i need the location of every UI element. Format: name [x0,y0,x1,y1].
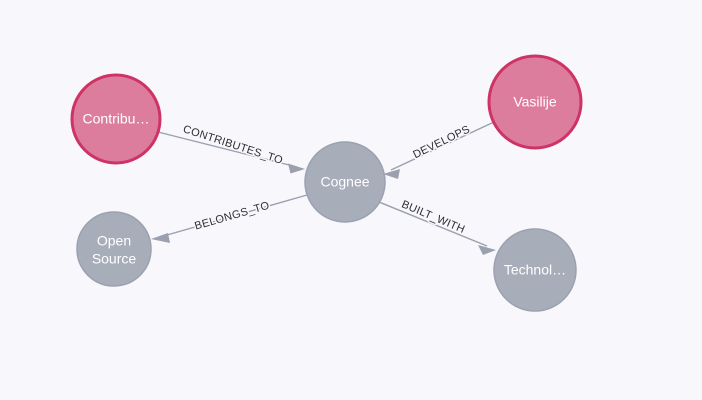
edge-label-belongs-to: BELONGS_TO [193,200,271,233]
edge-belongs-to[interactable]: BELONGS_TO [151,195,307,243]
arrowhead-built-with [478,245,496,255]
graph-visualization[interactable]: CONTRIBUTES_TO DEVELOPS BELONGS_TO BUILT… [0,0,702,400]
node-label-open-source-line2: Source [92,251,137,267]
edge-line-built-with [379,202,487,246]
nodes-layer: Contribu… Vasilije Cognee Open Source Te… [72,56,581,311]
node-circle-open-source[interactable] [77,212,151,286]
node-label-contributor: Contribu… [83,111,150,127]
node-contributor[interactable]: Contribu… [72,75,160,163]
edge-label-contributes-to: CONTRIBUTES_TO [182,123,285,167]
arrowhead-belongs-to [151,233,170,243]
graph-canvas[interactable]: CONTRIBUTES_TO DEVELOPS BELONGS_TO BUILT… [0,0,702,400]
node-label-open-source-line1: Open [97,233,131,249]
edge-built-with[interactable]: BUILT_WITH [379,199,496,255]
node-vasilije[interactable]: Vasilije [489,56,581,148]
edge-label-built-with: BUILT_WITH [400,199,467,236]
node-label-cognee: Cognee [320,174,369,190]
node-open-source[interactable]: Open Source [77,212,151,286]
edge-develops[interactable]: DEVELOPS [383,122,494,179]
edge-contributes-to[interactable]: CONTRIBUTES_TO [158,123,305,173]
node-cognee[interactable]: Cognee [305,142,385,222]
arrowhead-contributes-to [288,164,305,174]
node-label-vasilije: Vasilije [513,94,557,110]
edge-label-develops: DEVELOPS [411,123,472,161]
node-label-technology: Technol… [504,262,566,278]
node-technology[interactable]: Technol… [494,229,576,311]
